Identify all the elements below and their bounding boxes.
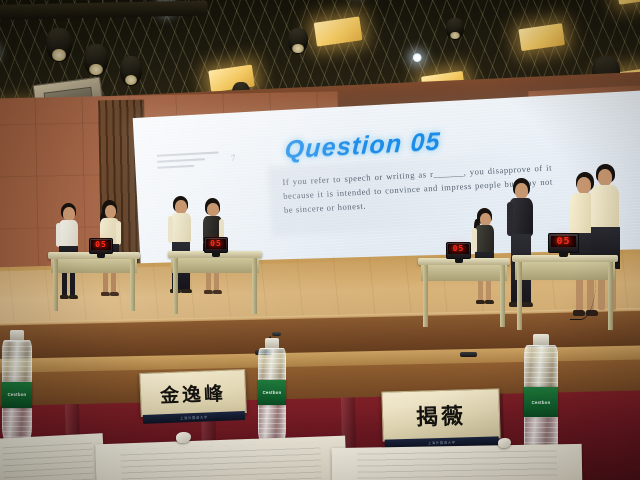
paper-lines bbox=[120, 442, 321, 480]
placard-board: 金逸峰 bbox=[139, 369, 247, 417]
microphone-head bbox=[272, 332, 281, 336]
timer-podium-2: 05 bbox=[204, 237, 228, 253]
stage-spotlight bbox=[120, 56, 142, 86]
head bbox=[598, 169, 612, 186]
arm bbox=[116, 221, 121, 245]
podium-leg bbox=[608, 262, 613, 330]
arm bbox=[168, 216, 173, 243]
podium-leg bbox=[130, 259, 135, 311]
judge-paper-left bbox=[0, 433, 105, 480]
timer-digits: 05 bbox=[210, 240, 222, 248]
head bbox=[105, 205, 116, 218]
head bbox=[175, 200, 187, 214]
paper-lines bbox=[2, 440, 94, 480]
timer-podium-4: 05 bbox=[548, 233, 579, 253]
timer-digits: 05 bbox=[95, 241, 107, 249]
podium-right bbox=[512, 255, 618, 323]
podium-leg bbox=[53, 259, 58, 311]
placard-name: 金逸峰 bbox=[159, 378, 226, 408]
podium-mid-right bbox=[418, 258, 510, 320]
timer-digits: 05 bbox=[556, 237, 570, 247]
bottle-label: Cestbon bbox=[258, 380, 287, 404]
bottle-label: Cestbon bbox=[524, 387, 559, 417]
podium-leg bbox=[517, 262, 522, 330]
placard-org-logo: 上海外国语大学 bbox=[180, 414, 208, 420]
judge-paper-right bbox=[332, 444, 583, 480]
arm bbox=[507, 202, 513, 236]
bottle-brand: Cestbon bbox=[532, 400, 551, 405]
podium-apron bbox=[515, 262, 615, 280]
placard-org-logo: 上海外国语大学 bbox=[428, 440, 456, 446]
head bbox=[63, 207, 75, 221]
podium-left bbox=[48, 252, 140, 304]
name-placard-2: 揭薇 上海外国语大学 bbox=[381, 388, 500, 441]
stage-spotlight bbox=[288, 28, 308, 54]
water-bottle-left: Cestbon bbox=[2, 330, 32, 442]
microphone-base bbox=[460, 352, 477, 357]
timer-podium-1: 05 bbox=[89, 238, 113, 254]
torso-cream-blouse bbox=[591, 185, 619, 229]
timer-stand bbox=[559, 252, 569, 257]
timer-display: 05 bbox=[206, 239, 226, 248]
name-placard-1: 金逸峰 上海外国语大学 bbox=[139, 369, 247, 417]
arm bbox=[56, 223, 61, 247]
timer-display: 05 bbox=[551, 236, 576, 248]
judge-paper-center bbox=[95, 436, 347, 480]
stage-spotlight bbox=[46, 28, 72, 62]
water-bottle-center: Cestbon bbox=[258, 338, 286, 444]
timer-stand bbox=[212, 252, 220, 257]
podium-apron bbox=[421, 265, 507, 281]
slide-page-number: 7 bbox=[231, 153, 236, 163]
timer-display: 05 bbox=[448, 244, 469, 254]
placard-board: 揭薇 bbox=[381, 388, 500, 441]
podium-apron bbox=[171, 258, 259, 273]
placard-name: 揭薇 bbox=[416, 398, 467, 431]
stage-spotlight bbox=[446, 18, 464, 40]
stage-photo-scene: 7 Question 05 If you refer to speech or … bbox=[0, 0, 640, 480]
podium-leg bbox=[173, 258, 178, 314]
podium-leg bbox=[500, 265, 505, 327]
torso-white-blouse bbox=[59, 220, 78, 247]
timer-digits: 05 bbox=[453, 245, 465, 253]
bottle-label: Cestbon bbox=[2, 382, 33, 409]
arm bbox=[472, 228, 477, 253]
podium-leg bbox=[423, 265, 428, 327]
torso-cream-shirt bbox=[171, 213, 191, 243]
stage-spotlight bbox=[84, 44, 108, 76]
timer-stand bbox=[97, 253, 105, 258]
podium-leg bbox=[252, 258, 257, 314]
head bbox=[207, 203, 219, 216]
podium-apron bbox=[51, 259, 137, 273]
bottle-brand: Cestbon bbox=[263, 390, 282, 395]
podium-mid-left bbox=[168, 251, 262, 307]
paper-lines bbox=[357, 449, 558, 480]
torso-dark-vest bbox=[475, 225, 494, 253]
water-bottle-right: Cestbon bbox=[524, 334, 558, 458]
podium-top bbox=[418, 258, 510, 265]
timer-podium-3: 05 bbox=[446, 242, 471, 259]
timer-display: 05 bbox=[91, 240, 111, 249]
slide-body-blank: _______ bbox=[433, 167, 464, 179]
head bbox=[515, 183, 528, 199]
slide-side-notes bbox=[157, 151, 220, 172]
bottle-brand: Cestbon bbox=[8, 392, 27, 397]
timer-stand bbox=[455, 258, 463, 263]
